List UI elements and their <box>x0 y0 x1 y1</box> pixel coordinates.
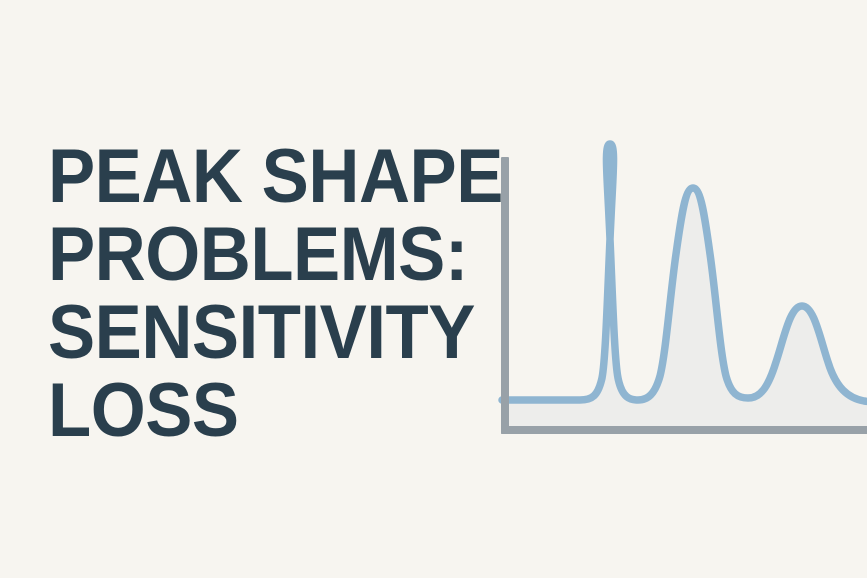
chromatogram-svg <box>480 126 867 456</box>
x-axis-line <box>501 426 867 434</box>
chromatogram-chart <box>480 126 867 456</box>
title-line-1: PEAK SHAPE <box>48 138 411 216</box>
page-title: PEAK SHAPE PROBLEMS: SENSITIVITY LOSS <box>48 138 438 450</box>
title-line-4: LOSS <box>48 372 411 450</box>
slide-canvas: PEAK SHAPE PROBLEMS: SENSITIVITY LOSS <box>0 0 867 578</box>
y-axis-line <box>501 157 509 434</box>
title-line-3: SENSITIVITY <box>48 294 411 372</box>
peak-area-fill <box>502 144 867 434</box>
title-line-2: PROBLEMS: <box>48 216 411 294</box>
